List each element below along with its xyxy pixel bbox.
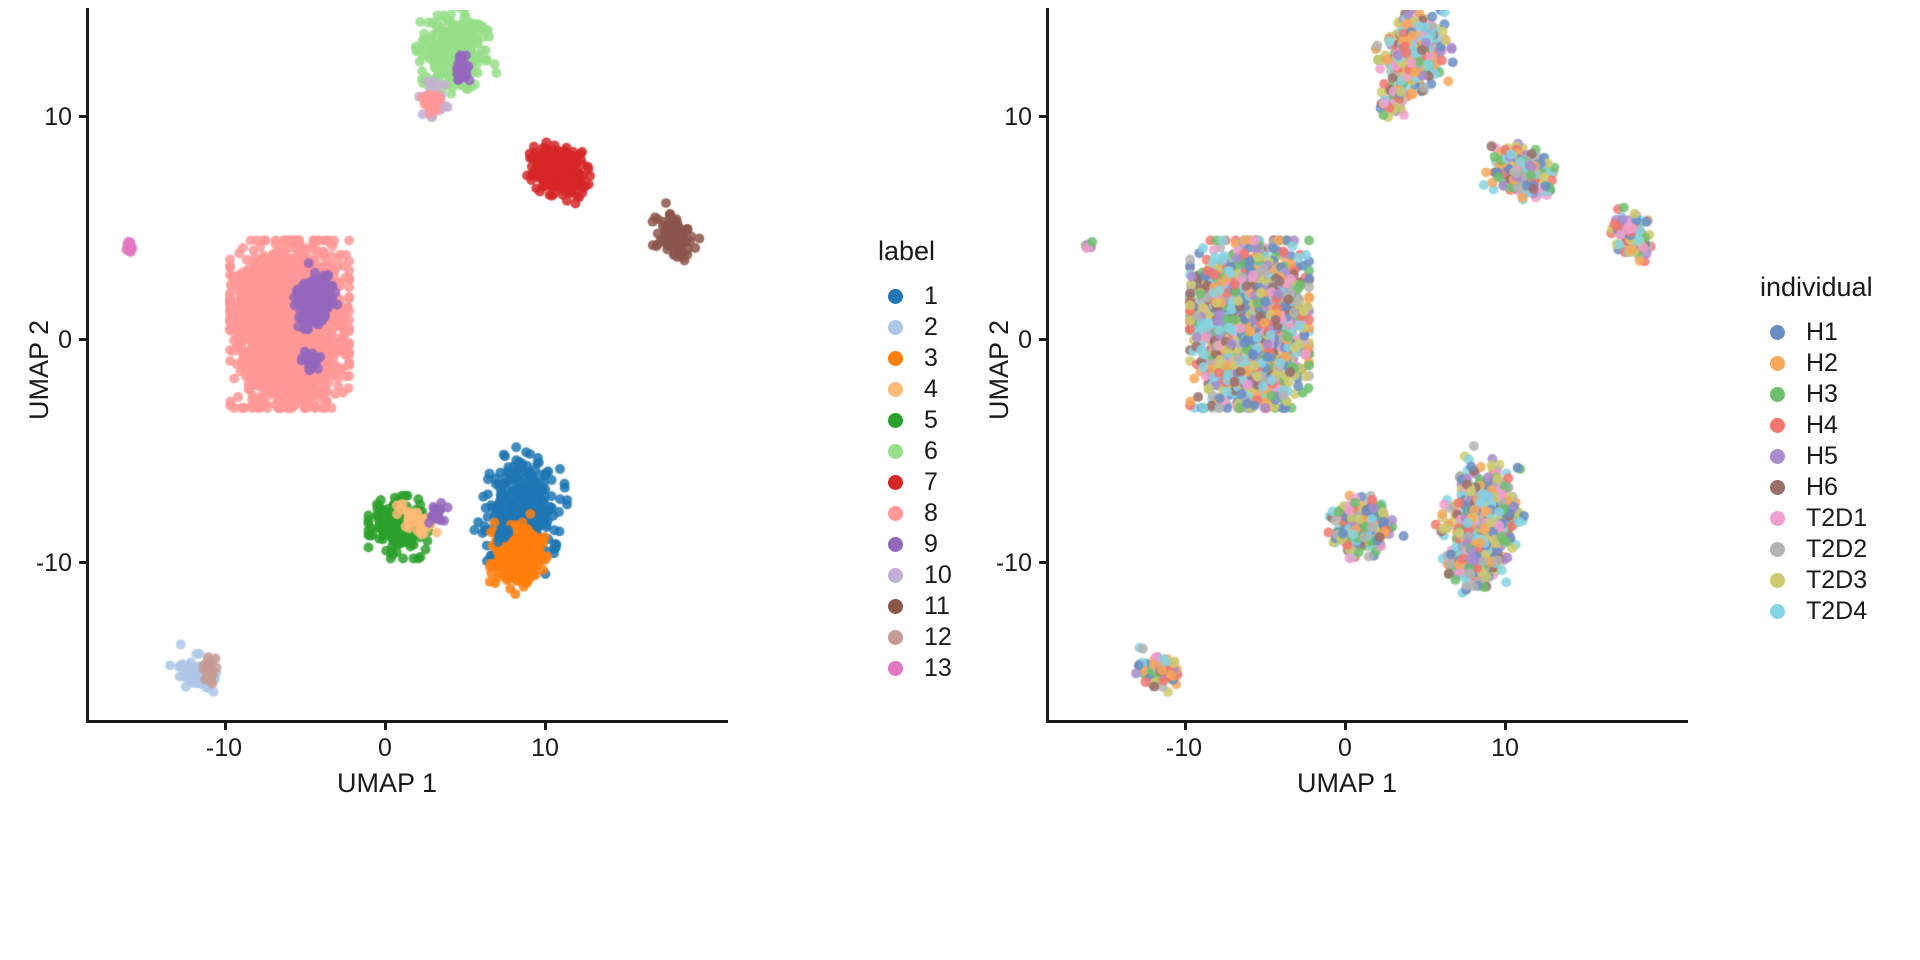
x-tick--10-right [1184,723,1187,730]
x-axis-line-left [86,720,728,723]
legend-dot-icon [888,630,903,645]
legend-dot-icon [888,475,903,490]
legend-key-icon [1760,573,1794,588]
legend-key-icon [1760,480,1794,495]
legend-item-label-13[interactable]: 13 [878,653,952,683]
legend-item-label: 1 [924,282,938,311]
legend-item-label: 8 [924,499,938,528]
x-axis-line-right [1046,720,1688,723]
x-tick-10-right [1504,723,1507,730]
legend-key-icon [878,630,912,645]
legend-key-icon [1760,604,1794,619]
y-tick-label--10-right: -10 [970,549,1032,578]
legend-individual: individual H1H2H3H4H5H6T2D1T2D2T2D3T2D4 [1760,272,1873,627]
legend-item-label-11[interactable]: 11 [878,591,952,621]
legend-key-icon [878,475,912,490]
legend-dot-icon [888,382,903,397]
legend-item-label: 10 [924,561,952,590]
y-tick-10-right [1039,115,1046,118]
x-tick-10-left [544,723,547,730]
legend-items-individual: H1H2H3H4H5H6T2D1T2D2T2D3T2D4 [1760,317,1873,626]
legend-dot-icon [1770,418,1785,433]
scatter-canvas-label [88,10,728,730]
legend-item-label: T2D2 [1806,535,1867,564]
legend-item-label: 7 [924,468,938,497]
legend-item-label: 13 [924,654,952,683]
legend-dot-icon [1770,449,1785,464]
legend-dot-icon [1770,480,1785,495]
legend-key-icon [878,351,912,366]
legend-key-icon [878,413,912,428]
legend-dot-icon [888,661,903,676]
legend-title-label: label [878,236,952,267]
y-axis-title-left: UMAP 2 [24,320,55,420]
x-tick--10-left [224,723,227,730]
legend-item-label-3[interactable]: 3 [878,343,952,373]
legend-item-label: 4 [924,375,938,404]
legend-dot-icon [1770,542,1785,557]
y-axis-line-right [1046,8,1049,722]
legend-item-individual-h3[interactable]: H3 [1760,379,1873,409]
legend-key-icon [878,444,912,459]
legend-key-icon [1760,418,1794,433]
umap-panel-individual: 10 0 -10 -10 0 10 UMAP 1 UMAP 2 individu… [960,0,1920,960]
legend-dot-icon [1770,387,1785,402]
legend-item-label: T2D1 [1806,504,1867,533]
legend-item-label: 3 [924,344,938,373]
legend-item-label: H2 [1806,349,1838,378]
legend-dot-icon [888,289,903,304]
legend-dot-icon [888,320,903,335]
x-axis-title-left: UMAP 1 [337,768,437,799]
legend-item-label-7[interactable]: 7 [878,467,952,497]
y-tick-0-right [1039,338,1046,341]
legend-item-individual-t2d1[interactable]: T2D1 [1760,503,1873,533]
legend-item-label: 11 [924,592,950,621]
legend-key-icon [1760,511,1794,526]
legend-key-icon [1760,387,1794,402]
legend-item-label-6[interactable]: 6 [878,436,952,466]
legend-dot-icon [888,506,903,521]
legend-key-icon [878,661,912,676]
legend-item-label: H4 [1806,411,1838,440]
legend-item-individual-t2d2[interactable]: T2D2 [1760,534,1873,564]
legend-title-individual: individual [1760,272,1873,303]
legend-key-icon [878,289,912,304]
y-tick-label-10-right: 10 [970,103,1032,132]
legend-dot-icon [1770,511,1785,526]
legend-item-label-10[interactable]: 10 [878,560,952,590]
y-tick--10-right [1039,561,1046,564]
legend-item-label-2[interactable]: 2 [878,312,952,342]
legend-dot-icon [1770,604,1785,619]
x-tick-label-0-right: 0 [1295,734,1395,763]
x-tick-label-10-right: 10 [1455,734,1555,763]
legend-key-icon [878,537,912,552]
legend-key-icon [1760,356,1794,371]
legend-item-individual-t2d4[interactable]: T2D4 [1760,596,1873,626]
legend-dot-icon [888,537,903,552]
legend-key-icon [878,599,912,614]
legend-item-individual-h4[interactable]: H4 [1760,410,1873,440]
legend-key-icon [878,506,912,521]
y-tick--10-left [79,561,86,564]
legend-item-label: T2D4 [1806,597,1867,626]
legend-dot-icon [1770,356,1785,371]
legend-label: label 12345678910111213 [878,236,952,684]
legend-dot-icon [888,413,903,428]
y-tick-label--10-left: -10 [10,549,72,578]
x-tick-0-right [1344,723,1347,730]
legend-item-individual-t2d3[interactable]: T2D3 [1760,565,1873,595]
legend-item-label: 2 [924,313,938,342]
legend-item-individual-h1[interactable]: H1 [1760,317,1873,347]
legend-key-icon [878,320,912,335]
legend-item-label: H3 [1806,380,1838,409]
scatter-canvas-individual [1048,10,1688,730]
legend-item-label-4[interactable]: 4 [878,374,952,404]
figure-root: 10 0 -10 -10 0 10 UMAP 1 UMAP 2 label 12… [0,0,1920,960]
legend-dot-icon [1770,573,1785,588]
legend-key-icon [1760,542,1794,557]
legend-dot-icon [888,444,903,459]
legend-dot-icon [1770,325,1785,340]
x-tick-0-left [384,723,387,730]
x-axis-title-right: UMAP 1 [1297,768,1397,799]
umap-panel-label: 10 0 -10 -10 0 10 UMAP 1 UMAP 2 label 12… [0,0,960,960]
legend-dot-icon [888,351,903,366]
y-tick-label-10-left: 10 [10,103,72,132]
y-tick-0-left [79,338,86,341]
legend-item-label-8[interactable]: 8 [878,498,952,528]
legend-key-icon [1760,325,1794,340]
legend-items-label: 12345678910111213 [878,281,952,683]
legend-key-icon [1760,449,1794,464]
legend-item-label-12[interactable]: 12 [878,622,952,652]
x-tick-label-0-left: 0 [335,734,435,763]
y-axis-line-left [86,8,89,722]
legend-item-label: H5 [1806,442,1838,471]
x-tick-label-10-left: 10 [495,734,595,763]
legend-key-icon [878,382,912,397]
legend-item-label: H6 [1806,473,1838,502]
y-axis-title-right: UMAP 2 [984,320,1015,420]
legend-dot-icon [888,568,903,583]
legend-item-label: 9 [924,530,938,559]
legend-item-label: H1 [1806,318,1838,347]
legend-item-label: 12 [924,623,952,652]
legend-item-individual-h2[interactable]: H2 [1760,348,1873,378]
y-tick-10-left [79,115,86,118]
legend-item-individual-h6[interactable]: H6 [1760,472,1873,502]
legend-item-label: T2D3 [1806,566,1867,595]
x-tick-label--10-right: -10 [1134,734,1234,763]
x-tick-label--10-left: -10 [174,734,274,763]
legend-item-label: 5 [924,406,938,435]
legend-item-label-9[interactable]: 9 [878,529,952,559]
legend-item-label-5[interactable]: 5 [878,405,952,435]
legend-key-icon [878,568,912,583]
legend-dot-icon [888,599,903,614]
legend-item-individual-h5[interactable]: H5 [1760,441,1873,471]
legend-item-label: 6 [924,437,938,466]
legend-item-label-1[interactable]: 1 [878,281,952,311]
